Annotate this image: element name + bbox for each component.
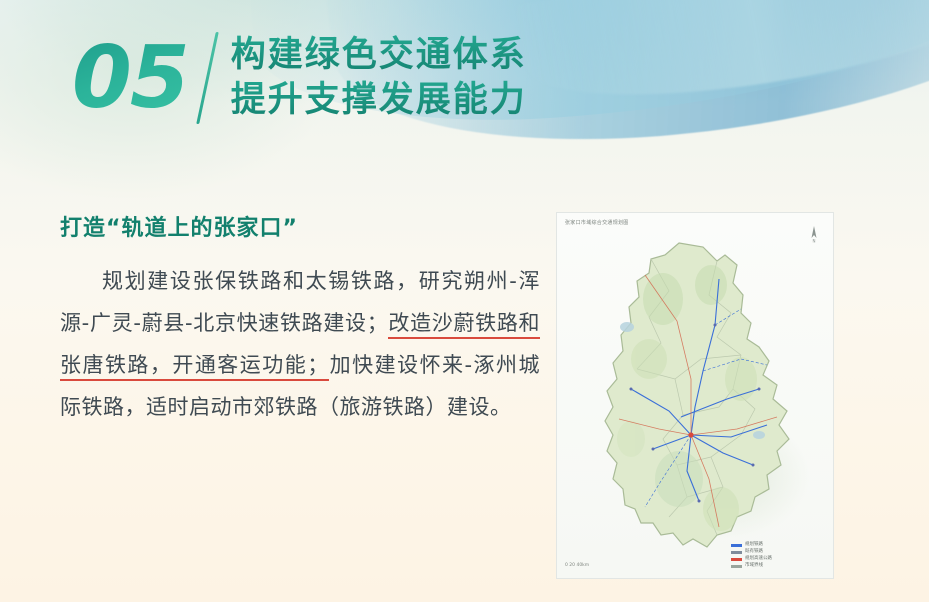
- decorative-ribbon-c: [514, 0, 929, 124]
- legend-label: 市域界线: [745, 563, 763, 570]
- header-titles: 构建绿色交通体系 提升支撑发展能力: [231, 33, 527, 123]
- legend-label: 规划高速公路: [745, 556, 772, 563]
- legend-item: 规划高速公路: [731, 556, 827, 563]
- legend-swatch: [731, 551, 742, 554]
- content-paragraph: 规划建设张保铁路和太锡铁路，研究朔州-浑源-广灵-蔚县-北京快速铁路建设；改造沙…: [60, 260, 540, 428]
- map-landmass: [591, 239, 799, 551]
- content-subtitle: 打造“轨道上的张家口”: [60, 210, 540, 242]
- map-canvas: 张家口市域综合交通规划图 N: [557, 213, 833, 578]
- legend-swatch: [731, 565, 742, 568]
- section-number: 05: [72, 35, 202, 121]
- legend-item: 市域界线: [731, 563, 827, 570]
- svg-text:N: N: [813, 239, 816, 244]
- legend-swatch: [731, 544, 742, 547]
- map-legend: 规划铁路 既有铁路 规划高速公路 市域界线: [731, 542, 827, 570]
- slide-page: 05 构建绿色交通体系 提升支撑发展能力 打造“轨道上的张家口” 规划建设张保铁…: [0, 0, 929, 602]
- section-header: 05 构建绿色交通体系 提升支撑发展能力: [72, 32, 527, 124]
- legend-swatch: [731, 558, 742, 561]
- header-title-line-1: 构建绿色交通体系: [231, 33, 527, 78]
- map-scale-bar: 0 20 40km: [565, 563, 589, 568]
- map-title: 张家口市域综合交通规划图: [565, 219, 629, 226]
- map-image-panel: 张家口市域综合交通规划图 N: [556, 212, 834, 579]
- body-content: 打造“轨道上的张家口” 规划建设张保铁路和太锡铁路，研究朔州-浑源-广灵-蔚县-…: [60, 210, 540, 428]
- compass-icon: N: [809, 225, 819, 243]
- header-title-line-2: 提升支撑发展能力: [231, 78, 527, 123]
